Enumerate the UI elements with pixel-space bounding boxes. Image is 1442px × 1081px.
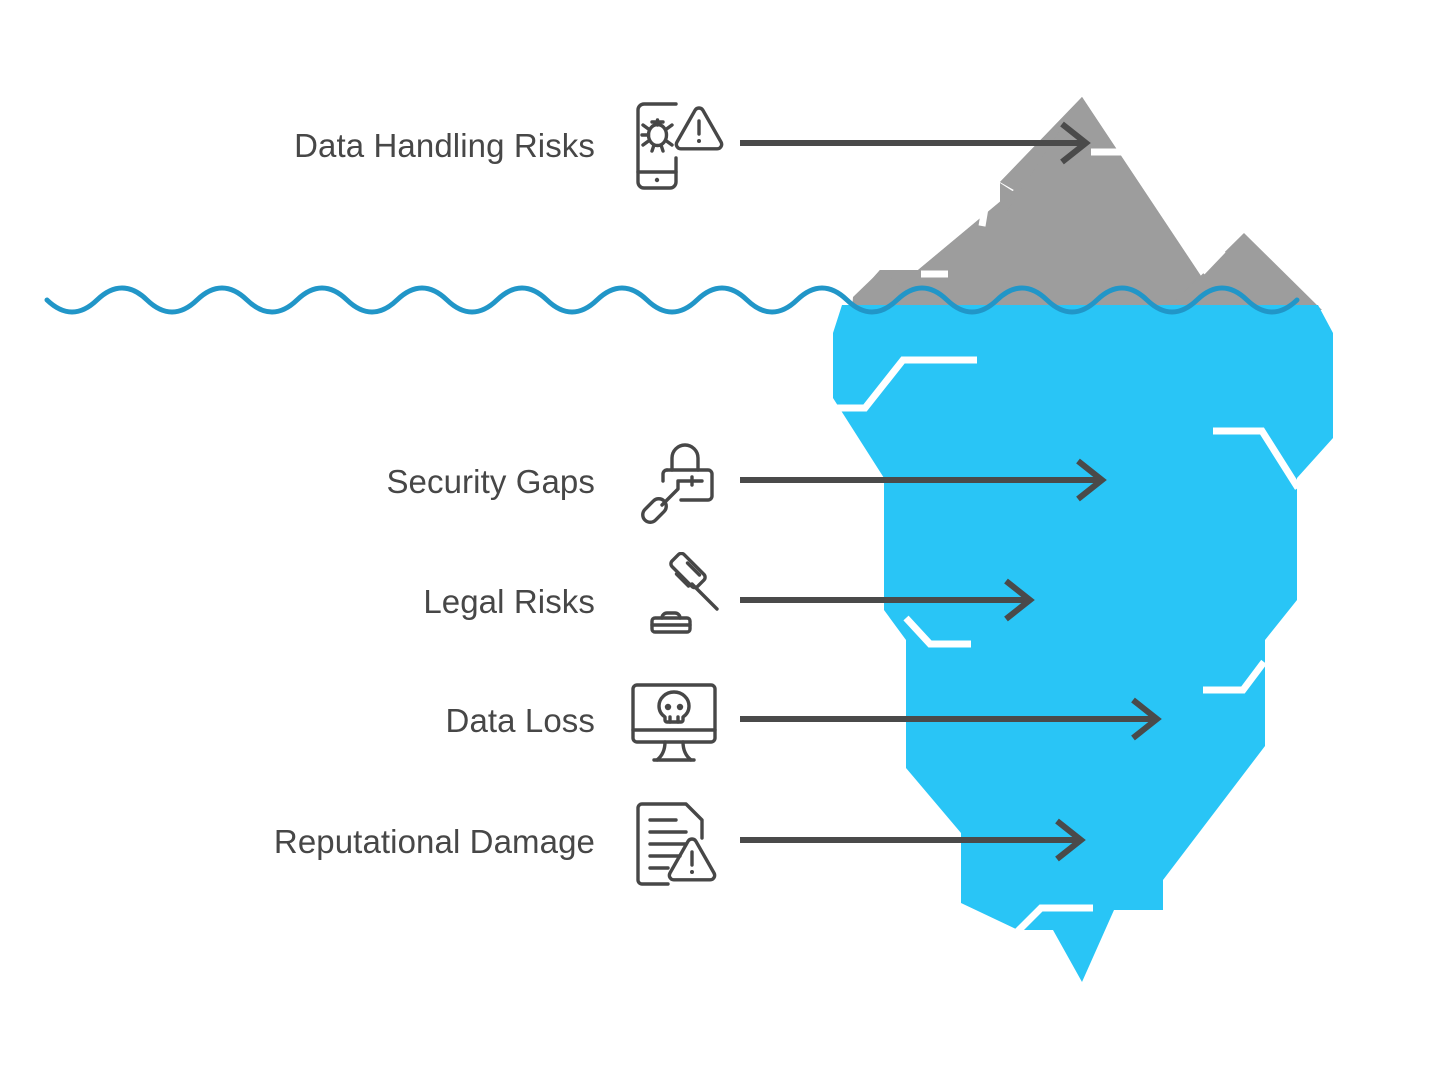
label-legal-risks: Legal Risks — [423, 583, 595, 621]
iceberg-blue-mass — [833, 305, 1333, 982]
gavel-icon — [624, 552, 724, 657]
label-reputational-damage: Reputational Damage — [274, 823, 595, 861]
iceberg-diagram: Data Handling Risks Security Gaps Legal … — [0, 0, 1442, 1081]
label-security-gaps: Security Gaps — [386, 463, 595, 501]
label-data-handling-risks: Data Handling Risks — [294, 127, 595, 165]
monitor-skull-icon — [624, 672, 724, 777]
iceberg-above-water — [852, 97, 1322, 310]
document-warning-icon — [624, 794, 724, 899]
label-data-loss: Data Loss — [446, 702, 595, 740]
phone-bug-warning-icon — [626, 96, 726, 201]
iceberg-below-water — [833, 305, 1333, 982]
unlocked-padlock-key-icon — [624, 434, 724, 539]
